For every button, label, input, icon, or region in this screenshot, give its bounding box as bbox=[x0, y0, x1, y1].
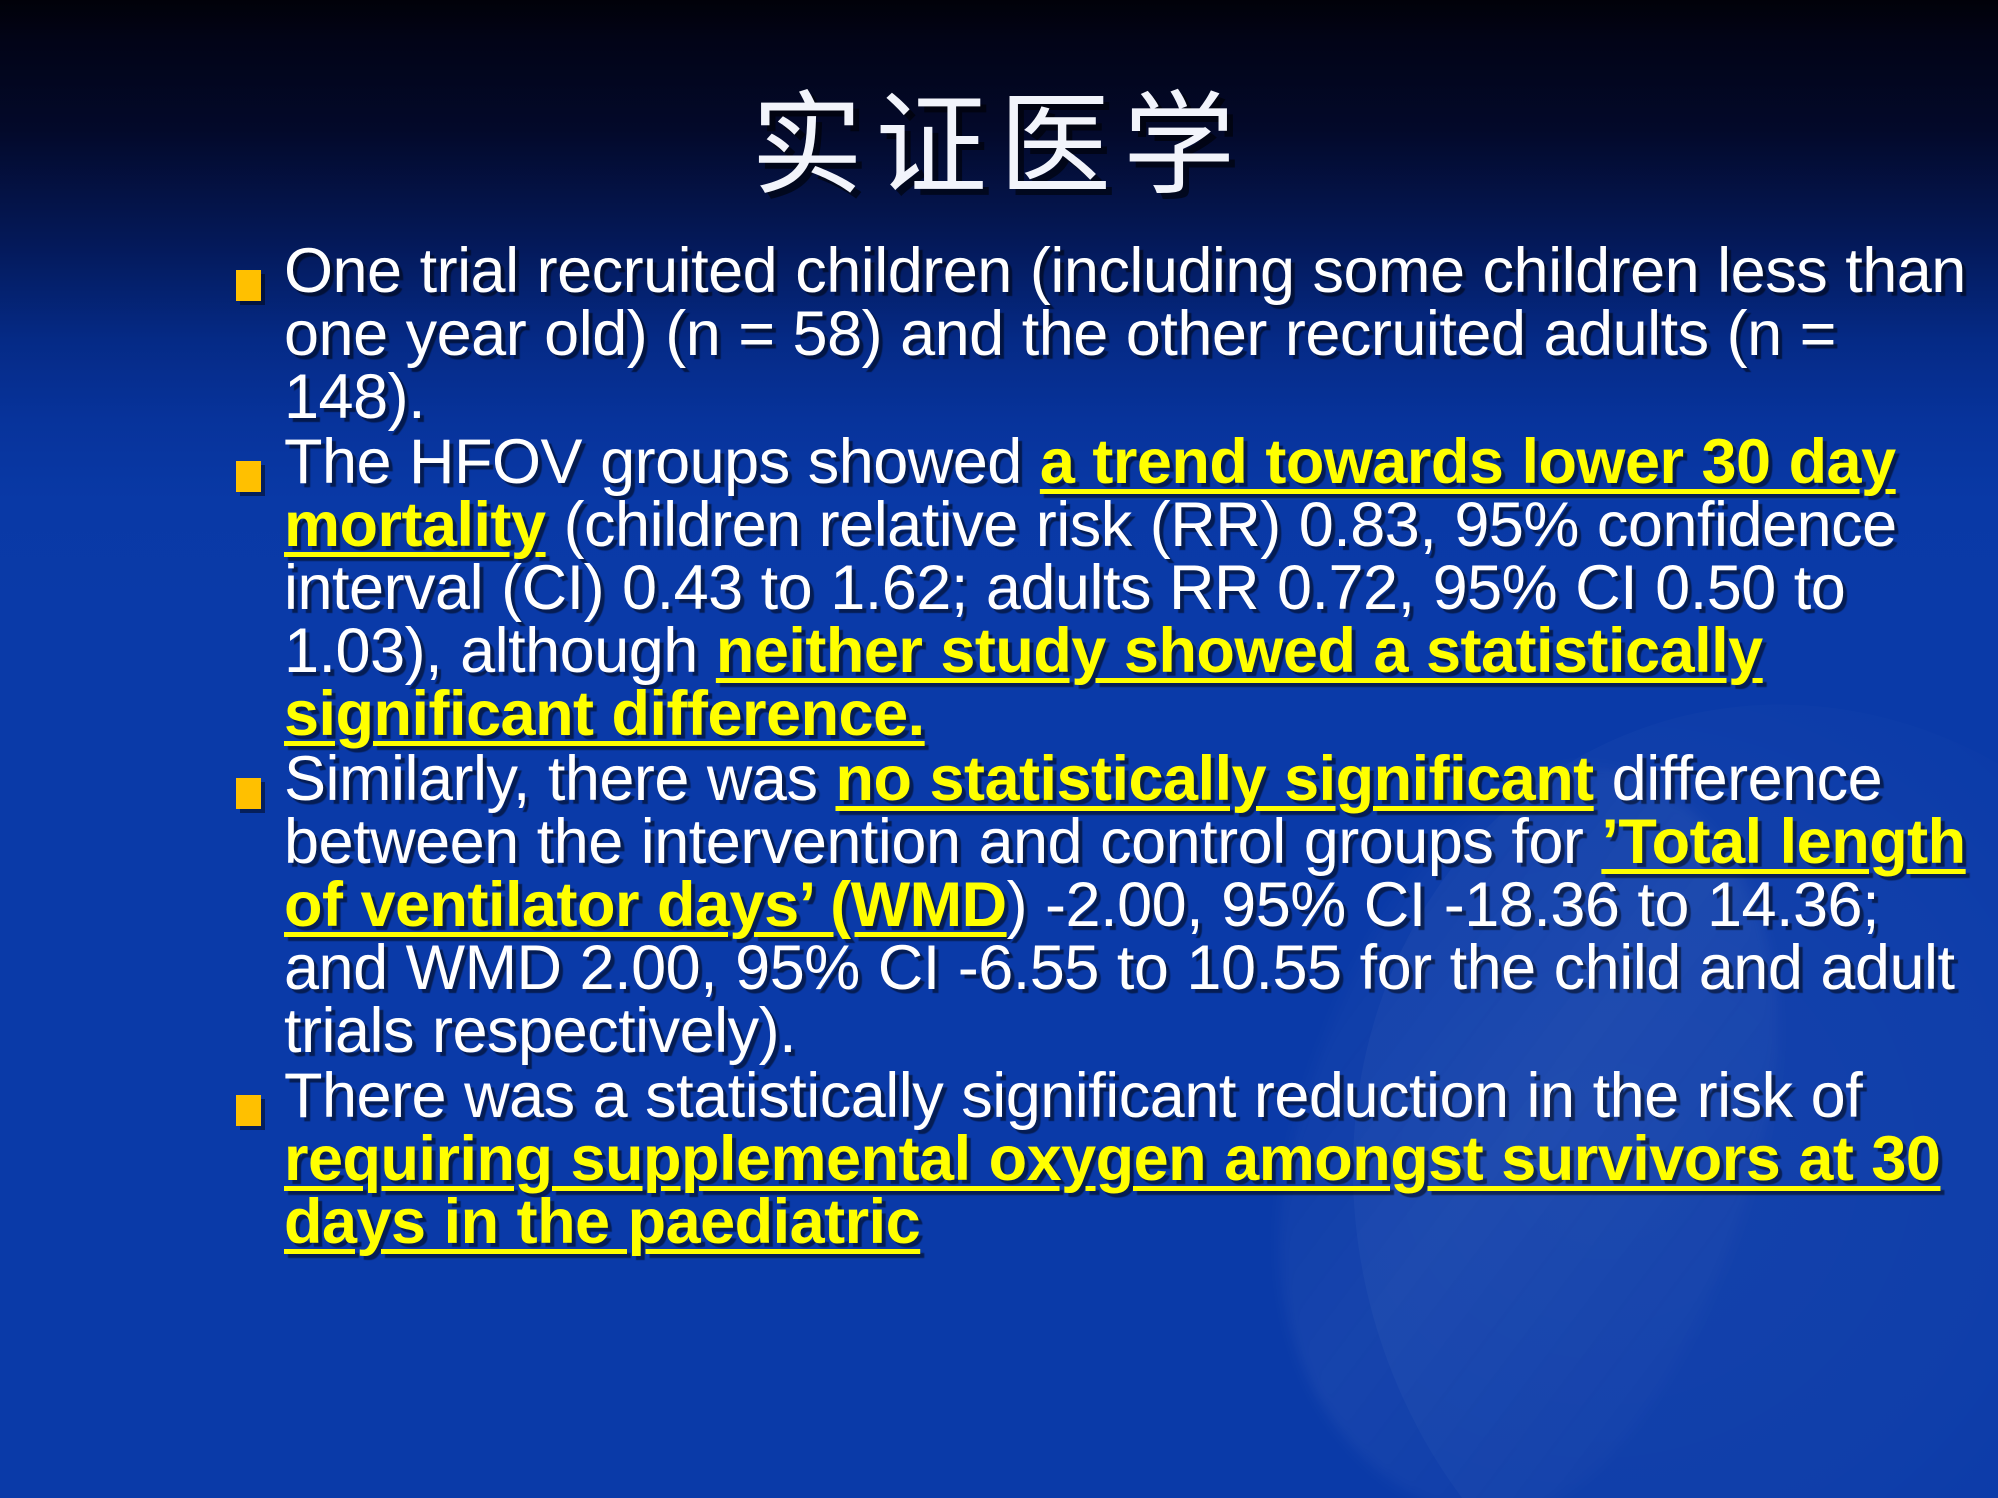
bullet-square-glyph bbox=[236, 1095, 261, 1126]
bullet-item: The HFOV groups showed a trend towards l… bbox=[222, 431, 1982, 746]
bullet-supplemental-oxygen: There was a statistically significant re… bbox=[284, 1065, 1982, 1254]
emphasis-text: no statistically significant bbox=[835, 744, 1593, 814]
bullet-ventilator-days: Similarly, there was no statistically si… bbox=[284, 748, 1982, 1063]
body-text: The HFOV groups showed bbox=[284, 427, 1040, 497]
slide-title: 实证医学 bbox=[0, 88, 1998, 206]
bullet-square-icon bbox=[222, 748, 284, 809]
slide-body: One trial recruited children (including … bbox=[222, 240, 1982, 1256]
bullet-square-glyph bbox=[236, 778, 261, 809]
emphasis-text: requiring supplemental oxygen amongst su… bbox=[284, 1124, 1940, 1257]
bullet-square-icon bbox=[222, 1065, 284, 1126]
slide-canvas: 实证医学 One trial recruited children (inclu… bbox=[0, 0, 1998, 1498]
bullet-hfov-mortality: The HFOV groups showed a trend towards l… bbox=[284, 431, 1982, 746]
bullet-square-icon bbox=[222, 240, 284, 301]
bullet-item: Similarly, there was no statistically si… bbox=[222, 748, 1982, 1063]
body-text: There was a statistically significant re… bbox=[284, 1061, 1862, 1131]
bullet-square-glyph bbox=[236, 461, 261, 492]
body-text: One trial recruited children (including … bbox=[284, 236, 1966, 432]
body-text: Similarly, there was bbox=[284, 744, 835, 814]
bullet-trial-recruitment: One trial recruited children (including … bbox=[284, 240, 1982, 429]
bullet-square-glyph bbox=[236, 270, 261, 301]
bullet-item: One trial recruited children (including … bbox=[222, 240, 1982, 429]
bullet-item: There was a statistically significant re… bbox=[222, 1065, 1982, 1254]
bullet-square-icon bbox=[222, 431, 284, 492]
